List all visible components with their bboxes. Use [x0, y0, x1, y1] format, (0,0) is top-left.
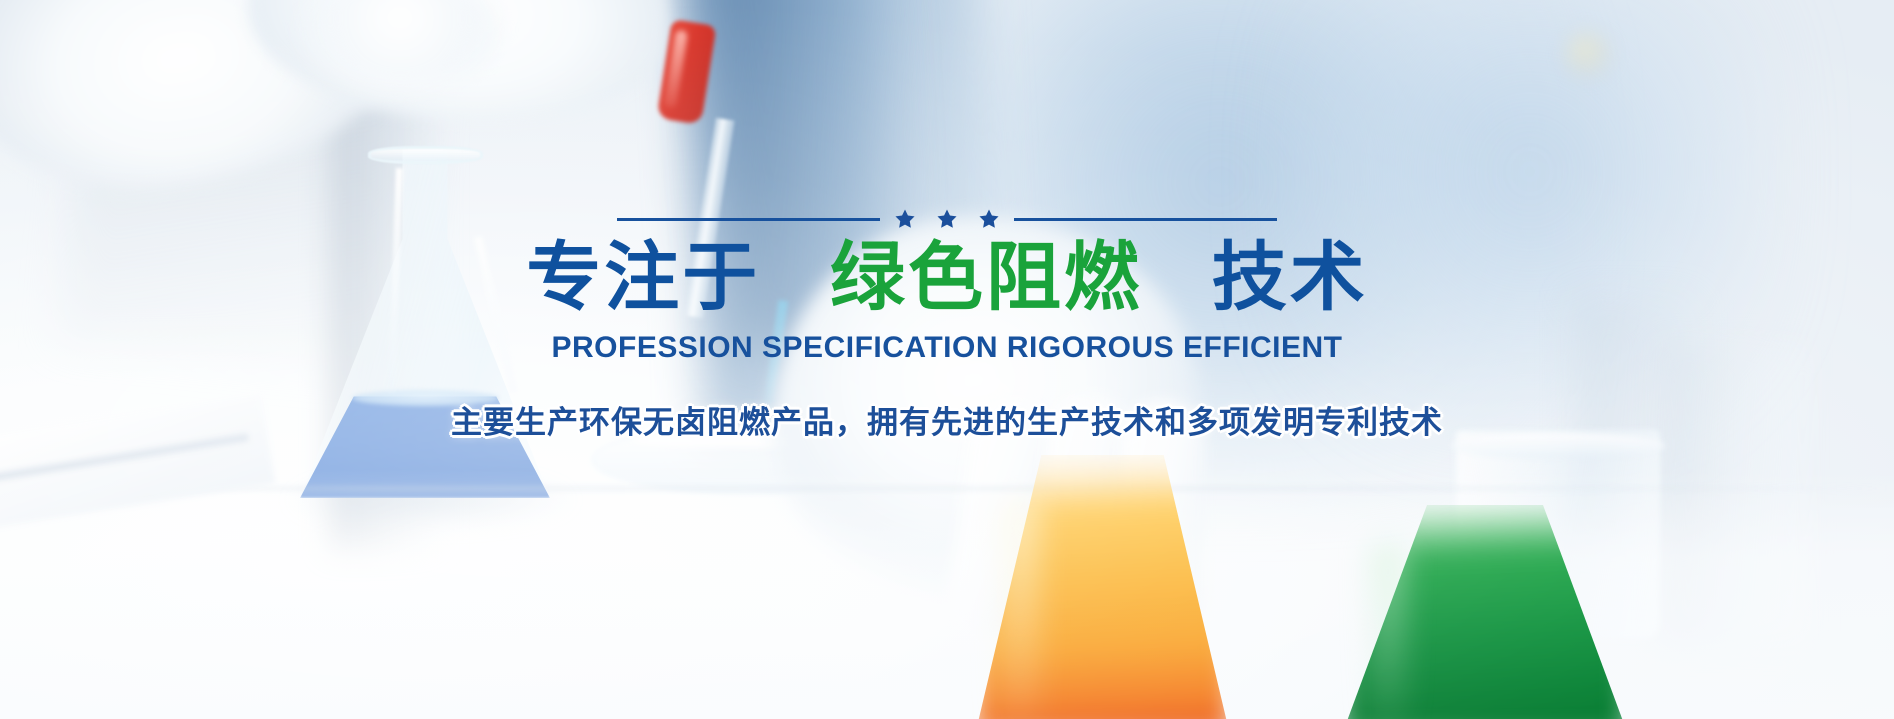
- star-icon: [936, 208, 958, 230]
- coat-button-icon: [1565, 32, 1611, 78]
- headline-segment-green: 绿色阻燃: [830, 235, 1142, 319]
- headline: 专注于 绿色阻燃 技术: [526, 237, 1367, 318]
- description-text: 主要生产环保无卤阻燃产品，拥有先进的生产技术和多项发明专利技术: [451, 397, 1443, 442]
- flask-rim: [368, 146, 483, 164]
- divider-rule-left: [617, 218, 880, 221]
- strapline: PROFESSION SPECIFICATION RIGOROUS EFFICI…: [552, 331, 1343, 365]
- headline-segment-blue-2: 技术: [1212, 235, 1368, 319]
- flask-green-highlight: [1370, 545, 1406, 719]
- star-icon: [978, 208, 1000, 230]
- hero-banner: 专注于 绿色阻燃 技术 PROFESSION SPECIFICATION RIG…: [0, 0, 1894, 719]
- star-divider: [617, 208, 1277, 230]
- headline-segment-blue-1: 专注于: [526, 235, 760, 319]
- clear-beaker-rim: [1450, 433, 1666, 459]
- star-icon: [894, 208, 916, 230]
- star-group: [894, 208, 1000, 230]
- flask-orange-highlight: [1000, 500, 1040, 719]
- desk-surface: [0, 470, 1894, 719]
- desk-edge-line: [0, 487, 1894, 490]
- divider-rule-right: [1014, 218, 1277, 221]
